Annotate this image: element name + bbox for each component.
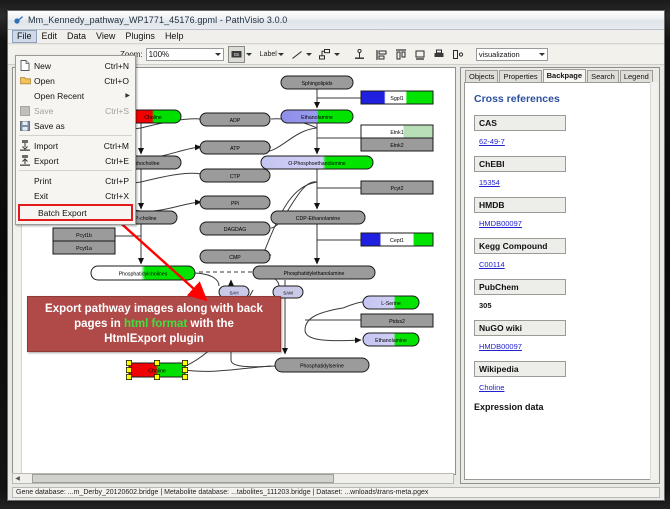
- node-label: Ethanolamine: [301, 115, 333, 121]
- metabolite-node-ctp[interactable]: CTP: [200, 169, 270, 182]
- menu-item-open-label: Open: [34, 76, 104, 86]
- window-title: Mm_Kennedy_pathway_WP1771_45176.gpml - P…: [28, 15, 287, 25]
- selection-handle[interactable]: [182, 367, 187, 372]
- menu-item-open-accel: Ctrl+O: [104, 76, 135, 86]
- xref-block-kegg: Kegg Compound C00114: [474, 238, 644, 272]
- interaction-dropdown-arrow[interactable]: [333, 47, 342, 62]
- node-label: DAGDAG: [224, 227, 246, 233]
- xref-value-chebi[interactable]: 15354: [479, 178, 500, 187]
- side-panel: Objects Properties Backpage Search Legen…: [460, 67, 660, 484]
- tab-objects[interactable]: Objects: [465, 70, 498, 82]
- tab-properties[interactable]: Properties: [499, 70, 541, 82]
- node-label: Pcyt1b: [76, 233, 92, 239]
- xref-source-wikipedia: Wikipedia: [474, 361, 566, 377]
- gene-node-ptdss2[interactable]: Ptdss2: [361, 314, 433, 327]
- pathvisio-window: Mm_Kennedy_pathway_WP1771_45176.gpml - P…: [7, 10, 665, 501]
- annotation-line-2: pages in html format with the: [74, 317, 234, 332]
- gene-node-etnk2[interactable]: Etnk2: [361, 138, 433, 151]
- align-tool-button[interactable]: [375, 47, 390, 62]
- node-label: Choline: [144, 115, 162, 121]
- group-tool-button[interactable]: [413, 47, 428, 62]
- node-label: ADP: [230, 118, 241, 124]
- metabolite-node-o-phosphoethanolamine[interactable]: O-Phosphoethanolamine: [261, 156, 373, 169]
- pathvisio-app-icon: [13, 15, 24, 26]
- export-icon: [16, 155, 34, 166]
- metabolite-node-ethanolamine-bottom[interactable]: Ethanolamine: [363, 333, 419, 346]
- menu-item-import-accel: Ctrl+M: [104, 141, 135, 151]
- datanode-tool-button[interactable]: Gn: [228, 46, 245, 63]
- xref-source-chebi: ChEBI: [474, 156, 566, 172]
- cross-references-heading: Cross references: [474, 93, 644, 105]
- xref-block-wikipedia: Wikipedia Choline: [474, 361, 644, 395]
- metabolite-node-adp[interactable]: ADP: [200, 113, 270, 126]
- node-label: PPi: [231, 201, 239, 207]
- metabolite-node-ethanolamine-top[interactable]: Ethanolamine: [281, 110, 353, 123]
- menu-help[interactable]: Help: [160, 30, 189, 43]
- metabolite-node-cdp-ethanolamine[interactable]: CDP-Ethanolamine: [271, 211, 365, 224]
- visualization-combobox[interactable]: visualization: [476, 48, 548, 61]
- label-tool-button[interactable]: Label: [260, 51, 277, 58]
- backpage-content: Cross references CAS 62-49-7 ChEBI 15354…: [464, 82, 654, 480]
- status-bar: Gene database: ...m_Derby_20120602.bridg…: [12, 487, 660, 498]
- tab-legend[interactable]: Legend: [620, 70, 653, 82]
- legend-tool-button[interactable]: [451, 47, 466, 62]
- gene-node-cept1[interactable]: Cept1: [361, 233, 433, 246]
- menu-item-save-accel: Ctrl+S: [105, 106, 135, 116]
- menu-edit[interactable]: Edit: [37, 30, 63, 43]
- annotation-line-2c: with the: [187, 318, 234, 330]
- node-label: Sgpl1: [390, 96, 403, 102]
- scroll-left-icon[interactable]: ◀: [13, 474, 22, 483]
- print-tool-button[interactable]: [432, 47, 447, 62]
- menu-item-new[interactable]: New Ctrl+N: [16, 58, 135, 73]
- menu-data[interactable]: Data: [62, 30, 91, 43]
- menu-separator-1: [19, 135, 132, 136]
- xref-value-nugo[interactable]: HMDB00097: [479, 342, 522, 351]
- node-label: O-Phosphoethanolamine: [288, 161, 346, 167]
- menu-item-print-accel: Ctrl+P: [105, 176, 135, 186]
- node-label: Pcyt1a: [76, 246, 92, 252]
- backpage-vscrollbar[interactable]: [650, 82, 658, 480]
- menu-item-export[interactable]: Export Ctrl+E: [16, 153, 135, 168]
- node-label: CDP-Ethanolamine: [296, 216, 341, 222]
- label-dropdown-arrow[interactable]: [277, 47, 286, 62]
- menu-plugins[interactable]: Plugins: [120, 30, 160, 43]
- xref-value-cas[interactable]: 62-49-7: [479, 137, 505, 146]
- metabolite-node-sphingolipids[interactable]: Sphingolipids: [281, 76, 353, 89]
- menu-item-save-as[interactable]: Save as: [16, 118, 135, 133]
- annotation-line-1: Export pathway images along with back: [45, 302, 263, 317]
- node-label: Phosphatidylethanolamine: [284, 271, 345, 277]
- new-file-icon: [16, 60, 34, 71]
- menu-item-batch-export-label: Batch Export: [38, 208, 131, 218]
- menu-item-exit-label: Exit: [34, 191, 105, 201]
- selection-handle[interactable]: [126, 367, 131, 372]
- title-bar: Mm_Kennedy_pathway_WP1771_45176.gpml - P…: [8, 11, 664, 30]
- visualization-value: visualization: [479, 50, 520, 59]
- node-label: Etnk1: [390, 130, 403, 136]
- menu-item-import[interactable]: Import Ctrl+M: [16, 138, 135, 153]
- menu-item-import-label: Import: [34, 141, 104, 151]
- node-label: L-Serine: [381, 301, 401, 307]
- menu-item-open-recent-label: Open Recent: [34, 91, 135, 101]
- file-menu-dropdown: New Ctrl+N Open Ctrl+O Open Recent ▶ Sav…: [15, 55, 136, 225]
- node-label: Ethanolamine: [375, 338, 407, 344]
- menu-bar: File Edit Data View Plugins Help: [8, 30, 664, 44]
- xref-source-pubchem: PubChem: [474, 279, 566, 295]
- node-label: CTP: [230, 174, 241, 180]
- selection-handle[interactable]: [126, 374, 131, 379]
- node-label: SAH: [229, 291, 238, 296]
- chevron-down-icon: [539, 53, 545, 56]
- menu-file[interactable]: File: [12, 30, 37, 43]
- menu-item-new-label: New: [34, 61, 105, 71]
- svg-text:Gn: Gn: [233, 52, 239, 57]
- menu-item-export-accel: Ctrl+E: [105, 156, 135, 166]
- chevron-right-icon: ▶: [125, 92, 130, 99]
- chevron-down-icon: [215, 53, 221, 56]
- xref-value-hmdb[interactable]: HMDB00097: [479, 219, 522, 228]
- node-label: SAM: [283, 291, 293, 296]
- tab-backpage[interactable]: Backpage: [543, 69, 586, 82]
- xref-source-kegg: Kegg Compound: [474, 238, 566, 254]
- gene-node-pcyt1b[interactable]: Pcyt1b: [53, 228, 115, 241]
- node-label: Phosphatidylcholines: [119, 272, 168, 278]
- xref-value-pubchem: 305: [479, 301, 492, 310]
- node-label: Etnk2: [390, 143, 403, 149]
- gene-node-pcyt1a[interactable]: Pcyt1a: [53, 241, 115, 254]
- menu-separator-2: [19, 170, 132, 171]
- status-text: Gene database: ...m_Derby_20120602.bridg…: [16, 489, 428, 496]
- metabolite-node-choline-bottom[interactable]: Choline: [126, 360, 187, 379]
- xref-source-hmdb: HMDB: [474, 197, 566, 213]
- xref-value-wikipedia[interactable]: Choline: [479, 383, 504, 392]
- xref-block-chebi: ChEBI 15354: [474, 156, 644, 190]
- anchor-tool-button[interactable]: [352, 47, 367, 62]
- menu-item-exit-accel: Ctrl+X: [105, 191, 135, 201]
- save-icon: [16, 106, 34, 116]
- menu-item-save-label: Save: [34, 106, 105, 116]
- metabolite-node-dagdag[interactable]: DAGDAG: [200, 222, 270, 235]
- node-label: ATP: [230, 146, 240, 152]
- xref-block-pubchem: PubChem 305: [474, 279, 644, 313]
- xref-source-nugo: NuGO wiki: [474, 320, 566, 336]
- xref-block-hmdb: HMDB HMDB00097: [474, 197, 644, 231]
- metabolite-node-ppi[interactable]: PPi: [200, 196, 270, 209]
- open-folder-icon: [16, 76, 34, 85]
- selection-handle[interactable]: [182, 374, 187, 379]
- line-dropdown-arrow[interactable]: [305, 47, 314, 62]
- menu-item-print[interactable]: Print Ctrl+P: [16, 173, 135, 188]
- menu-item-print-label: Print: [34, 176, 105, 186]
- side-panel-tabs: Objects Properties Backpage Search Legen…: [461, 68, 659, 82]
- desktop-background: Mm_Kennedy_pathway_WP1771_45176.gpml - P…: [0, 0, 670, 509]
- tab-search[interactable]: Search: [587, 70, 619, 82]
- gene-node-sgpl1[interactable]: Sgpl1: [361, 91, 433, 104]
- xref-block-cas: CAS 62-49-7: [474, 115, 644, 149]
- node-label: CMP: [229, 255, 241, 261]
- canvas-hscrollbar[interactable]: ◀: [12, 473, 454, 484]
- metabolite-node-phosphatidylserine[interactable]: Phosphatidylserine: [275, 358, 369, 372]
- xref-block-nugo: NuGO wiki HMDB00097: [474, 320, 644, 354]
- node-label: Pcyt2: [391, 186, 404, 192]
- selection-handle[interactable]: [154, 374, 159, 379]
- hscroll-thumb[interactable]: [32, 474, 334, 483]
- datanode-dropdown-arrow[interactable]: [245, 47, 254, 62]
- node-label: Cept1: [390, 238, 404, 244]
- metabolite-node-phosphatidylethanolamine[interactable]: Phosphatidylethanolamine: [253, 266, 375, 279]
- save-as-icon: [16, 121, 34, 131]
- gene-node-etnk1[interactable]: Etnk1: [361, 125, 433, 138]
- selection-handle[interactable]: [154, 360, 159, 365]
- gene-node-pcyt2[interactable]: Pcyt2: [361, 181, 433, 194]
- annotation-callout: Export pathway images along with back pa…: [27, 296, 281, 352]
- xref-source-cas: CAS: [474, 115, 566, 131]
- menu-item-open-recent[interactable]: Open Recent ▶: [16, 88, 135, 103]
- node-label: Choline: [148, 369, 166, 375]
- annotation-html-format: html format: [124, 318, 187, 330]
- menu-item-new-accel: Ctrl+N: [105, 61, 135, 71]
- menu-view[interactable]: View: [91, 30, 120, 43]
- annotation-line-3: HtmlExport plugin: [104, 332, 204, 347]
- node-label: Ptdss2: [389, 319, 405, 325]
- xref-value-kegg[interactable]: C00114: [479, 260, 505, 269]
- menu-item-exit[interactable]: Exit Ctrl+X: [16, 188, 135, 203]
- zoom-value: 100%: [149, 50, 169, 59]
- menu-item-batch-export[interactable]: Batch Export: [18, 204, 133, 221]
- line-tool-button[interactable]: [290, 47, 305, 62]
- metabolite-node-l-serine[interactable]: L-Serine: [363, 296, 419, 309]
- import-icon: [16, 140, 34, 151]
- zoom-combobox[interactable]: 100%: [146, 48, 224, 61]
- selection-handle[interactable]: [126, 360, 131, 365]
- menu-item-save: Save Ctrl+S: [16, 103, 135, 118]
- menu-item-export-label: Export: [34, 156, 105, 166]
- interaction-tool-button[interactable]: [318, 47, 333, 62]
- menu-item-save-as-label: Save as: [34, 121, 129, 131]
- annotation-line-2a: pages in: [74, 318, 124, 330]
- metabolite-node-cmp[interactable]: CMP: [200, 250, 270, 263]
- expression-data-heading: Expression data: [474, 402, 644, 412]
- stack-tool-button[interactable]: [394, 47, 409, 62]
- selection-handle[interactable]: [182, 360, 187, 365]
- metabolite-node-phosphatidylcholines[interactable]: Phosphatidylcholines: [91, 266, 195, 280]
- node-label: Sphingolipids: [302, 81, 333, 87]
- node-label: Phosphatidylserine: [300, 364, 344, 370]
- menu-item-open[interactable]: Open Ctrl+O: [16, 73, 135, 88]
- metabolite-node-atp[interactable]: ATP: [200, 141, 270, 154]
